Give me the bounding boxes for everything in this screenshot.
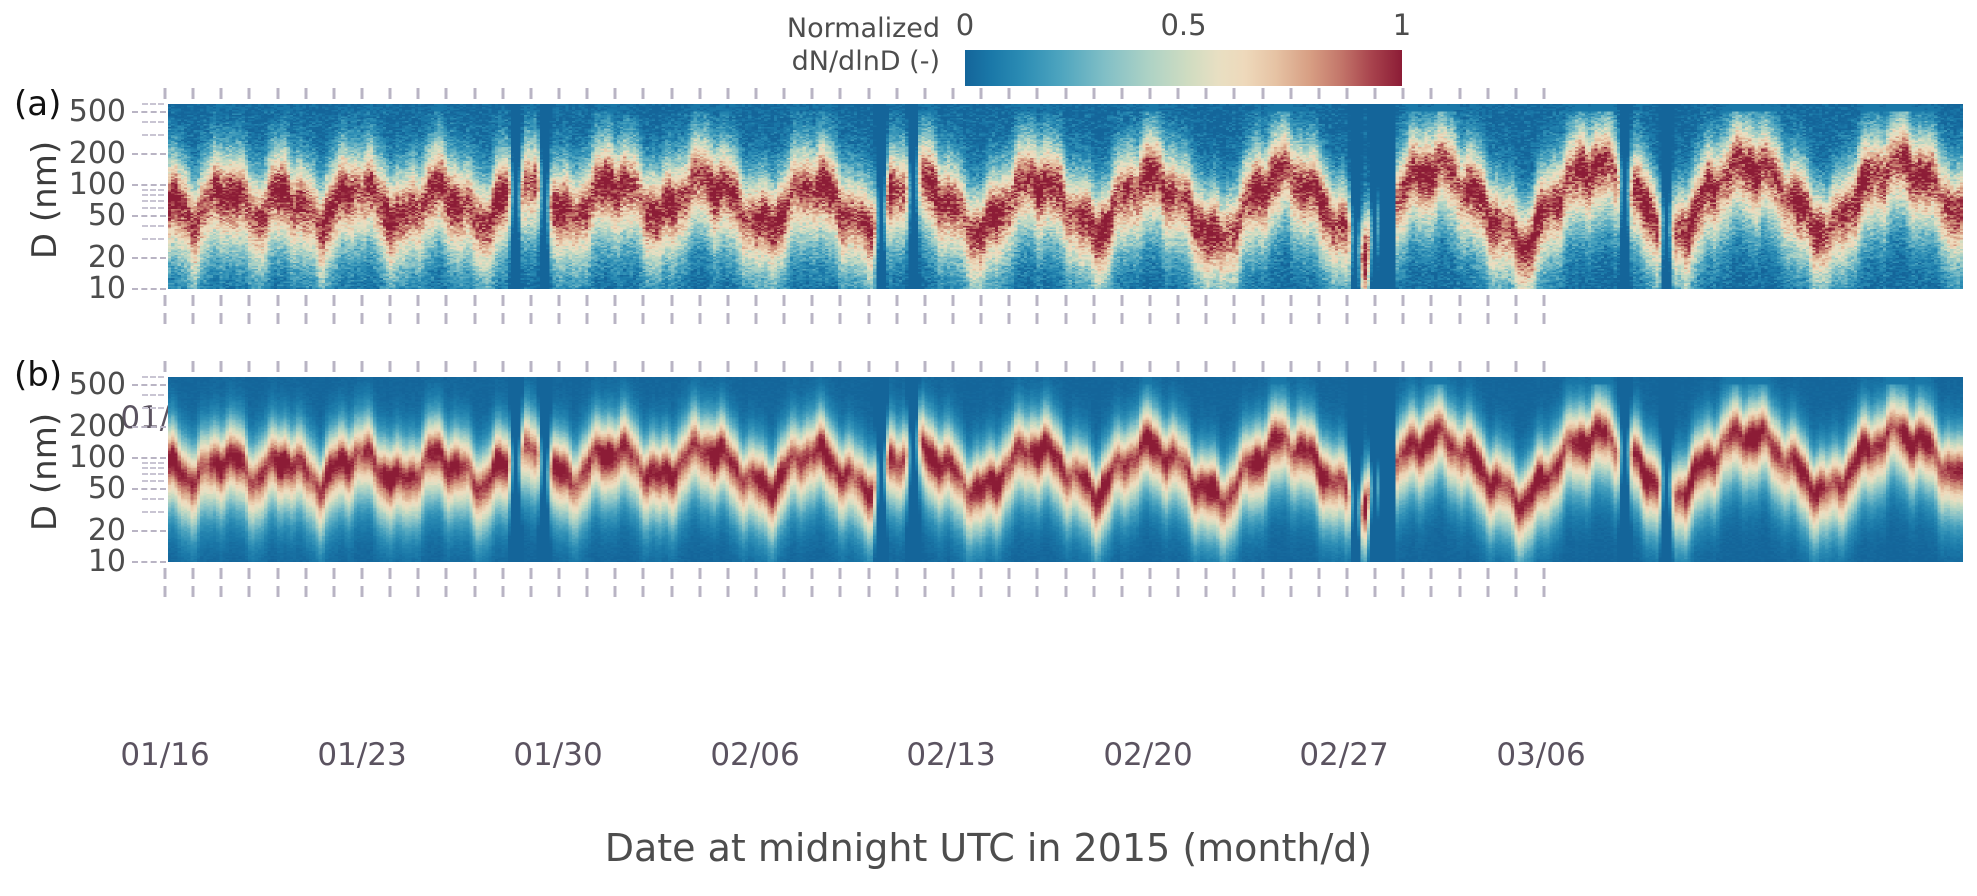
colorbar-tick-0: 0 <box>956 8 974 42</box>
x-minor-tick-mark-bottom2 <box>952 586 955 597</box>
x-minor-tick-mark-top <box>473 88 476 99</box>
x-minor-tick-mark-bottom <box>1008 568 1011 579</box>
x-minor-tick-mark-top <box>1543 88 1546 99</box>
x-minor-tick-mark-bottom2 <box>1092 313 1095 324</box>
y-tick-label-100: 100 <box>0 441 126 475</box>
x-minor-tick-mark-bottom2 <box>1346 586 1349 597</box>
x-minor-tick-mark-top <box>1205 361 1208 372</box>
x-minor-tick-mark-bottom2 <box>839 313 842 324</box>
x-minor-tick-mark-bottom <box>867 295 870 306</box>
x-minor-tick-mark-bottom2 <box>1543 313 1546 324</box>
x-minor-tick-mark-bottom <box>726 295 729 306</box>
x-minor-tick-mark-bottom2 <box>1317 586 1320 597</box>
x-minor-tick-mark-bottom <box>1149 568 1152 579</box>
x-minor-tick-mark-top <box>332 361 335 372</box>
x-minor-tick-mark-top <box>895 361 898 372</box>
colorbar-gradient-wrap <box>965 50 1402 86</box>
x-minor-tick-mark-top <box>980 361 983 372</box>
x-minor-tick-mark-bottom <box>304 568 307 579</box>
x-minor-tick-mark-bottom <box>783 568 786 579</box>
x-minor-tick-mark-top <box>1346 88 1349 99</box>
x-minor-tick-mark-bottom <box>726 568 729 579</box>
x-minor-tick-mark-bottom2 <box>1064 313 1067 324</box>
panel-a-heatmap <box>168 104 1963 289</box>
x-minor-tick-mark-bottom <box>670 568 673 579</box>
y-tick-mark <box>132 384 166 386</box>
x-minor-tick-mark-bottom <box>642 295 645 306</box>
x-minor-tick-mark-bottom2 <box>1430 313 1433 324</box>
x-minor-tick-mark-bottom2 <box>1036 586 1039 597</box>
panel-b-heatmap-canvas <box>168 377 1963 562</box>
x-minor-tick-mark-top <box>1233 361 1236 372</box>
x-minor-tick-mark-top <box>361 361 364 372</box>
y-tick-mark <box>132 215 166 217</box>
x-minor-tick-mark-top <box>1120 361 1123 372</box>
x-minor-tick-mark-top <box>1514 361 1517 372</box>
x-minor-tick-mark-bottom <box>529 568 532 579</box>
x-minor-tick-mark-bottom <box>417 568 420 579</box>
x-minor-tick-mark-bottom <box>1458 568 1461 579</box>
y-minor-tick-mark <box>142 498 164 500</box>
x-minor-tick-mark-bottom <box>923 295 926 306</box>
x-minor-tick-mark-bottom2 <box>895 586 898 597</box>
x-minor-tick-mark-bottom2 <box>529 586 532 597</box>
y-tick-label-50: 50 <box>0 472 126 506</box>
x-minor-tick-mark-top <box>332 88 335 99</box>
x-minor-tick-mark-bottom <box>1458 295 1461 306</box>
x-minor-tick-mark-top <box>529 361 532 372</box>
x-minor-tick-mark-bottom <box>164 568 167 579</box>
x-minor-tick-mark-top <box>220 361 223 372</box>
x-minor-tick-mark-bottom <box>1092 568 1095 579</box>
y-minor-tick-mark <box>142 511 164 513</box>
x-minor-tick-mark-top <box>1514 88 1517 99</box>
y-tick-label-500: 500 <box>0 368 126 402</box>
x-minor-tick-mark-bottom <box>1008 295 1011 306</box>
x-minor-tick-mark-top <box>726 361 729 372</box>
x-minor-tick-mark-top <box>1430 88 1433 99</box>
x-minor-tick-mark-bottom2 <box>1514 586 1517 597</box>
x-minor-tick-mark-bottom <box>586 568 589 579</box>
x-minor-tick-mark-bottom <box>1486 568 1489 579</box>
x-minor-tick-mark-bottom <box>867 568 870 579</box>
x-minor-tick-mark-bottom2 <box>220 586 223 597</box>
x-minor-tick-mark-bottom <box>1233 568 1236 579</box>
x-minor-tick-mark-bottom <box>417 295 420 306</box>
x-minor-tick-mark-bottom2 <box>1064 586 1067 597</box>
y-tick-label-100: 100 <box>0 168 126 202</box>
x-minor-tick-mark-top <box>755 361 758 372</box>
x-tick-label-02-06: 02/06 <box>710 737 799 773</box>
x-minor-tick-mark-top <box>558 88 561 99</box>
x-minor-tick-mark-bottom2 <box>867 586 870 597</box>
x-minor-tick-mark-bottom <box>389 568 392 579</box>
x-minor-tick-mark-bottom2 <box>1149 586 1152 597</box>
y-minor-tick-mark <box>142 134 164 136</box>
x-minor-tick-mark-top <box>811 361 814 372</box>
y-tick-mark <box>132 561 166 563</box>
x-minor-tick-mark-bottom <box>895 568 898 579</box>
x-minor-tick-mark-bottom <box>1064 568 1067 579</box>
x-minor-tick-mark-bottom <box>1289 295 1292 306</box>
x-minor-tick-mark-bottom2 <box>698 313 701 324</box>
x-minor-tick-mark-bottom <box>1289 568 1292 579</box>
x-minor-tick-mark-bottom <box>1036 295 1039 306</box>
x-minor-tick-mark-bottom <box>1346 295 1349 306</box>
x-minor-tick-mark-bottom <box>248 295 251 306</box>
x-minor-tick-mark-top <box>586 88 589 99</box>
x-minor-tick-mark-bottom2 <box>473 586 476 597</box>
panel-b-heatmap <box>168 377 1963 562</box>
x-minor-tick-mark-bottom2 <box>361 313 364 324</box>
x-tick-label-01-16: 01/16 <box>120 737 209 773</box>
x-minor-tick-mark-bottom <box>839 295 842 306</box>
x-minor-tick-mark-bottom <box>895 295 898 306</box>
x-minor-tick-mark-bottom2 <box>1486 313 1489 324</box>
x-minor-tick-mark-top <box>1430 361 1433 372</box>
y-tick-label-200: 200 <box>0 137 126 171</box>
x-minor-tick-mark-bottom <box>1402 295 1405 306</box>
x-minor-tick-mark-bottom <box>980 568 983 579</box>
x-minor-tick-mark-bottom2 <box>501 313 504 324</box>
x-minor-tick-mark-bottom <box>1261 568 1264 579</box>
x-minor-tick-mark-bottom <box>698 295 701 306</box>
x-minor-tick-mark-top <box>1092 361 1095 372</box>
x-minor-tick-mark-bottom <box>445 295 448 306</box>
x-minor-tick-mark-bottom <box>1149 295 1152 306</box>
x-minor-tick-mark-top <box>1543 361 1546 372</box>
x-minor-tick-mark-top <box>698 88 701 99</box>
x-minor-tick-mark-bottom2 <box>952 313 955 324</box>
x-minor-tick-mark-bottom2 <box>895 313 898 324</box>
x-minor-tick-mark-bottom <box>952 568 955 579</box>
x-minor-tick-mark-bottom <box>1177 568 1180 579</box>
x-minor-tick-mark-bottom <box>473 295 476 306</box>
x-minor-tick-mark-top <box>389 361 392 372</box>
x-minor-tick-mark-top <box>1486 361 1489 372</box>
x-minor-tick-mark-bottom <box>1486 295 1489 306</box>
x-minor-tick-mark-top <box>1177 88 1180 99</box>
x-minor-tick-mark-bottom2 <box>220 313 223 324</box>
x-minor-tick-mark-top <box>783 361 786 372</box>
x-minor-tick-mark-top <box>839 88 842 99</box>
x-minor-tick-mark-bottom2 <box>1036 313 1039 324</box>
x-minor-tick-mark-bottom <box>1233 295 1236 306</box>
x-minor-tick-mark-bottom2 <box>755 586 758 597</box>
y-minor-tick-mark <box>142 473 164 475</box>
x-minor-tick-mark-top <box>558 361 561 372</box>
x-minor-tick-mark-bottom2 <box>529 313 532 324</box>
x-minor-tick-mark-bottom <box>276 568 279 579</box>
x-minor-tick-mark-top <box>1289 88 1292 99</box>
x-minor-tick-mark-bottom2 <box>1149 313 1152 324</box>
y-tick-mark <box>132 288 166 290</box>
x-minor-tick-mark-top <box>1458 88 1461 99</box>
x-minor-tick-mark-bottom2 <box>1374 313 1377 324</box>
x-minor-tick-mark-bottom <box>952 295 955 306</box>
x-minor-tick-mark-bottom <box>501 295 504 306</box>
x-minor-tick-mark-bottom2 <box>614 586 617 597</box>
x-minor-tick-mark-bottom2 <box>558 313 561 324</box>
x-minor-tick-mark-top <box>614 361 617 372</box>
x-minor-tick-mark-top <box>980 88 983 99</box>
x-minor-tick-mark-top <box>417 361 420 372</box>
y-tick-label-500: 500 <box>0 95 126 129</box>
x-minor-tick-mark-bottom2 <box>1486 586 1489 597</box>
x-minor-tick-mark-bottom2 <box>1430 586 1433 597</box>
x-minor-tick-mark-top <box>670 361 673 372</box>
x-minor-tick-mark-bottom <box>1205 568 1208 579</box>
x-minor-tick-mark-bottom <box>1261 295 1264 306</box>
x-minor-tick-mark-bottom <box>192 295 195 306</box>
x-minor-tick-mark-bottom2 <box>417 586 420 597</box>
x-minor-tick-mark-bottom <box>1120 295 1123 306</box>
colorbar-tick-labels: 0 0.5 1 <box>965 8 1402 48</box>
x-minor-tick-mark-bottom2 <box>839 586 842 597</box>
x-minor-tick-mark-bottom2 <box>783 313 786 324</box>
x-minor-tick-mark-bottom2 <box>248 586 251 597</box>
x-minor-tick-mark-top <box>529 88 532 99</box>
x-minor-tick-mark-bottom <box>1402 568 1405 579</box>
x-minor-tick-mark-top <box>923 88 926 99</box>
colorbar-title: Normalized dN/dlnD (-) <box>740 12 940 78</box>
x-minor-tick-mark-bottom <box>276 295 279 306</box>
x-minor-tick-mark-bottom2 <box>586 586 589 597</box>
y-minor-tick-mark <box>142 480 164 482</box>
x-minor-tick-mark-top <box>1064 361 1067 372</box>
x-minor-tick-mark-top <box>501 361 504 372</box>
y-minor-tick-mark <box>142 376 164 378</box>
y-minor-tick-mark <box>142 407 164 409</box>
x-minor-tick-mark-bottom <box>473 568 476 579</box>
x-minor-tick-mark-bottom <box>361 295 364 306</box>
x-minor-tick-mark-bottom2 <box>1458 313 1461 324</box>
x-minor-tick-mark-bottom2 <box>980 313 983 324</box>
x-minor-tick-mark-top <box>867 88 870 99</box>
x-minor-tick-mark-top <box>1486 88 1489 99</box>
x-minor-tick-mark-top <box>501 88 504 99</box>
x-minor-tick-mark-bottom2 <box>1374 586 1377 597</box>
x-minor-tick-mark-bottom <box>614 568 617 579</box>
y-minor-tick-mark <box>142 394 164 396</box>
x-minor-tick-mark-bottom <box>558 295 561 306</box>
x-minor-tick-mark-bottom2 <box>1514 313 1517 324</box>
x-minor-tick-mark-top <box>417 88 420 99</box>
x-minor-tick-mark-top <box>1149 361 1152 372</box>
y-minor-tick-mark <box>142 225 164 227</box>
x-minor-tick-mark-bottom <box>755 295 758 306</box>
x-minor-tick-mark-top <box>1008 361 1011 372</box>
y-tick-label-20: 20 <box>0 241 126 275</box>
y-tick-mark <box>132 257 166 259</box>
y-minor-tick-mark <box>142 467 164 469</box>
y-minor-tick-mark <box>142 121 164 123</box>
x-minor-tick-mark-bottom2 <box>642 313 645 324</box>
x-minor-tick-mark-bottom2 <box>811 586 814 597</box>
x-minor-tick-mark-top <box>783 88 786 99</box>
x-minor-tick-mark-bottom2 <box>1317 313 1320 324</box>
x-minor-tick-mark-bottom2 <box>1543 586 1546 597</box>
x-minor-tick-mark-bottom2 <box>1261 313 1264 324</box>
x-minor-tick-mark-top <box>867 361 870 372</box>
x-minor-tick-mark-top <box>1008 88 1011 99</box>
x-minor-tick-mark-bottom2 <box>1177 313 1180 324</box>
x-tick-label-01-23: 01/23 <box>317 737 406 773</box>
x-minor-tick-mark-bottom <box>783 295 786 306</box>
x-minor-tick-mark-top <box>164 88 167 99</box>
x-minor-tick-mark-bottom <box>586 295 589 306</box>
x-minor-tick-mark-top <box>445 361 448 372</box>
x-minor-tick-mark-top <box>726 88 729 99</box>
x-minor-tick-mark-bottom2 <box>670 586 673 597</box>
x-minor-tick-mark-top <box>670 88 673 99</box>
x-minor-tick-mark-top <box>839 361 842 372</box>
x-minor-tick-mark-top <box>1261 361 1264 372</box>
x-minor-tick-mark-top <box>952 88 955 99</box>
x-minor-tick-mark-top <box>1317 361 1320 372</box>
x-minor-tick-mark-bottom <box>1430 568 1433 579</box>
x-minor-tick-mark-top <box>1233 88 1236 99</box>
x-minor-tick-mark-bottom2 <box>614 313 617 324</box>
x-minor-tick-mark-top <box>1149 88 1152 99</box>
y-minor-tick-mark <box>142 194 164 196</box>
x-minor-tick-mark-bottom2 <box>164 313 167 324</box>
x-minor-tick-mark-top <box>1177 361 1180 372</box>
y-tick-mark <box>132 153 166 155</box>
x-minor-tick-mark-bottom <box>923 568 926 579</box>
x-minor-tick-mark-top <box>1346 361 1349 372</box>
x-minor-tick-mark-bottom2 <box>164 586 167 597</box>
x-minor-tick-mark-bottom <box>1120 568 1123 579</box>
x-minor-tick-mark-top <box>1402 361 1405 372</box>
y-tick-mark <box>132 184 166 186</box>
x-minor-tick-mark-bottom2 <box>923 313 926 324</box>
x-minor-tick-mark-top <box>1036 88 1039 99</box>
x-minor-tick-mark-bottom2 <box>192 313 195 324</box>
x-minor-tick-mark-bottom <box>1317 568 1320 579</box>
x-minor-tick-mark-bottom2 <box>1177 586 1180 597</box>
x-minor-tick-mark-top <box>698 361 701 372</box>
x-minor-tick-mark-top <box>642 361 645 372</box>
x-minor-tick-mark-bottom2 <box>980 586 983 597</box>
x-minor-tick-mark-bottom <box>389 295 392 306</box>
x-minor-tick-mark-top <box>642 88 645 99</box>
x-minor-tick-mark-top <box>1205 88 1208 99</box>
x-minor-tick-mark-top <box>220 88 223 99</box>
x-minor-tick-mark-top <box>304 361 307 372</box>
x-minor-tick-mark-top <box>952 361 955 372</box>
x-minor-tick-mark-top <box>1458 361 1461 372</box>
x-tick-label-03-06: 03/06 <box>1496 737 1585 773</box>
y-minor-tick-mark <box>142 189 164 191</box>
x-minor-tick-mark-bottom <box>1514 295 1517 306</box>
x-minor-tick-mark-bottom2 <box>304 586 307 597</box>
x-minor-tick-mark-bottom <box>558 568 561 579</box>
colorbar-gradient <box>965 50 1402 86</box>
x-minor-tick-mark-bottom <box>1543 568 1546 579</box>
x-minor-tick-mark-bottom2 <box>1289 313 1292 324</box>
x-minor-tick-mark-bottom2 <box>389 586 392 597</box>
x-minor-tick-mark-bottom2 <box>389 313 392 324</box>
x-minor-tick-mark-top <box>304 88 307 99</box>
x-minor-tick-mark-bottom <box>332 295 335 306</box>
x-minor-tick-mark-bottom2 <box>726 586 729 597</box>
x-minor-tick-mark-bottom <box>614 295 617 306</box>
x-minor-tick-mark-bottom <box>1036 568 1039 579</box>
x-minor-tick-mark-bottom <box>1374 295 1377 306</box>
x-minor-tick-mark-bottom <box>1374 568 1377 579</box>
x-minor-tick-mark-top <box>1374 361 1377 372</box>
x-minor-tick-mark-bottom2 <box>558 586 561 597</box>
x-minor-tick-mark-top <box>276 361 279 372</box>
x-minor-tick-mark-bottom <box>642 568 645 579</box>
x-minor-tick-mark-bottom <box>1064 295 1067 306</box>
y-tick-label-200: 200 <box>0 410 126 444</box>
x-minor-tick-mark-bottom <box>445 568 448 579</box>
x-minor-tick-mark-bottom2 <box>698 586 701 597</box>
x-minor-tick-mark-bottom2 <box>1008 586 1011 597</box>
x-minor-tick-mark-top <box>248 361 251 372</box>
x-tick-label-02-13: 02/13 <box>906 737 995 773</box>
x-minor-tick-mark-bottom <box>220 295 223 306</box>
colorbar-title-line1: Normalized <box>740 12 940 45</box>
x-minor-tick-mark-top <box>614 88 617 99</box>
x-minor-tick-mark-top <box>473 361 476 372</box>
x-minor-tick-mark-bottom <box>670 295 673 306</box>
x-minor-tick-mark-top <box>1092 88 1095 99</box>
x-minor-tick-mark-bottom2 <box>1289 586 1292 597</box>
y-minor-tick-mark <box>142 462 164 464</box>
x-minor-tick-mark-bottom2 <box>811 313 814 324</box>
x-minor-tick-mark-bottom2 <box>783 586 786 597</box>
x-minor-tick-mark-bottom2 <box>1261 586 1264 597</box>
x-minor-tick-mark-bottom2 <box>923 586 926 597</box>
y-minor-tick-mark <box>142 103 164 105</box>
y-tick-label-10: 10 <box>0 272 126 306</box>
y-minor-tick-mark <box>142 207 164 209</box>
x-minor-tick-mark-top <box>1064 88 1067 99</box>
x-minor-tick-mark-bottom <box>811 568 814 579</box>
x-minor-tick-mark-bottom <box>1177 295 1180 306</box>
x-axis-title: Date at midnight UTC in 2015 (month/d) <box>0 826 1977 870</box>
x-minor-tick-mark-bottom <box>1346 568 1349 579</box>
x-minor-tick-mark-top <box>755 88 758 99</box>
x-minor-tick-mark-bottom2 <box>361 586 364 597</box>
x-minor-tick-mark-bottom2 <box>1233 586 1236 597</box>
x-minor-tick-mark-top <box>1374 88 1377 99</box>
x-minor-tick-mark-bottom <box>192 568 195 579</box>
x-minor-tick-mark-top <box>1289 361 1292 372</box>
x-minor-tick-mark-bottom2 <box>670 313 673 324</box>
x-minor-tick-mark-top <box>445 88 448 99</box>
x-minor-tick-mark-bottom <box>1317 295 1320 306</box>
x-minor-tick-mark-bottom2 <box>1120 586 1123 597</box>
x-minor-tick-mark-bottom <box>839 568 842 579</box>
x-minor-tick-mark-bottom2 <box>332 586 335 597</box>
x-minor-tick-mark-top <box>586 361 589 372</box>
x-minor-tick-mark-bottom <box>501 568 504 579</box>
x-minor-tick-mark-bottom2 <box>417 313 420 324</box>
x-minor-tick-mark-top <box>923 361 926 372</box>
y-tick-mark <box>132 457 166 459</box>
x-minor-tick-mark-bottom2 <box>473 313 476 324</box>
y-tick-mark <box>132 488 166 490</box>
y-minor-tick-mark <box>142 200 164 202</box>
x-minor-tick-mark-bottom2 <box>1205 586 1208 597</box>
x-minor-tick-mark-top <box>276 88 279 99</box>
x-minor-tick-mark-bottom <box>220 568 223 579</box>
x-minor-tick-mark-top <box>1036 361 1039 372</box>
